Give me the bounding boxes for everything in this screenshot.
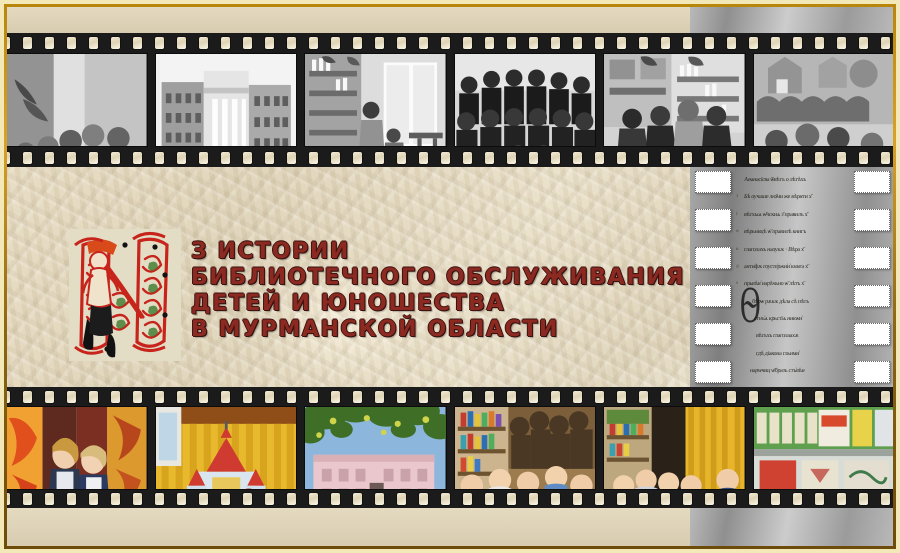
photo-readers-at-exhibition	[754, 54, 894, 147]
sprocket-frame	[695, 171, 731, 193]
sprocket-frame	[854, 171, 890, 193]
sprocket-hole	[309, 493, 318, 505]
sprocket-hole	[881, 391, 890, 403]
photo-frame	[454, 406, 597, 490]
sprocket-hole	[551, 37, 560, 49]
sprocket-hole	[749, 37, 758, 49]
manuscript-line: данти҆фѫ гоусте҆ржи҆и҆ книга х҃	[736, 258, 849, 275]
sprocket-hole	[771, 493, 780, 505]
sprocket-hole	[397, 152, 406, 164]
sprocket-hole	[133, 493, 142, 505]
sprocket-hole	[287, 493, 296, 505]
photo-frame	[753, 53, 894, 147]
photo-frame	[155, 53, 298, 147]
film-strip-top	[7, 33, 893, 167]
sprocket-hole	[771, 391, 780, 403]
title-text-lines: З ИСТОРИИ БИБЛИОТЕЧНОГО ОБСЛУЖИВАНИЯ ДЕТ…	[191, 229, 685, 343]
photo-frame	[155, 406, 298, 490]
sprocket-hole	[463, 493, 472, 505]
sprocket-hole	[441, 493, 450, 505]
title-line-4: В МУРМАНСКОЙ ОБЛАСТИ	[191, 317, 685, 343]
photo-frame	[7, 406, 148, 490]
sprocket-hole	[727, 391, 736, 403]
sprocket-hole	[353, 391, 362, 403]
photo-book-exhibition-teremok	[156, 407, 297, 490]
illuminated-initial-i	[69, 229, 181, 361]
sprocket-hole	[661, 37, 670, 49]
sprocket-hole	[529, 152, 538, 164]
sprocket-hole	[89, 493, 98, 505]
sprocket-hole	[177, 493, 186, 505]
manuscript-line-text: анти҆фѫ гоусте҆ржи҆и҆ книга х҃	[744, 264, 808, 270]
sprocket-hole	[155, 152, 164, 164]
sprocket-hole	[595, 152, 604, 164]
sprocket-hole	[661, 152, 670, 164]
sprocket-hole	[45, 37, 54, 49]
sprocket-hole	[573, 152, 582, 164]
sprocket-hole	[683, 37, 692, 49]
sprocket-hole	[815, 493, 824, 505]
sprocket-hole	[375, 391, 384, 403]
slide-title-block: З ИСТОРИИ БИБЛИОТЕЧНОГО ОБСЛУЖИВАНИЯ ДЕТ…	[69, 229, 685, 361]
sprocket-hole	[441, 152, 450, 164]
sprocket-hole	[199, 37, 208, 49]
film-frames-top	[7, 53, 893, 147]
sprocket-hole	[375, 152, 384, 164]
sprocket-hole	[485, 37, 494, 49]
manuscript-line-text: Аѳанасїєва ѿвѣтъ о лѣтѣхъ	[744, 177, 806, 183]
sprocket-hole	[485, 493, 494, 505]
sprocket-hole	[309, 37, 318, 49]
sprocket-hole	[705, 152, 714, 164]
film-strip-bottom	[7, 387, 893, 508]
sprocket-hole	[287, 37, 296, 49]
title-line-1: З ИСТОРИИ	[191, 239, 685, 265]
sprocket-hole	[7, 37, 10, 49]
perforation-column-right	[851, 167, 893, 387]
sprocket-hole	[705, 493, 714, 505]
perforation-row-top	[7, 389, 893, 404]
sprocket-hole	[23, 493, 32, 505]
title-line-3: ДЕТЕЙ И ЮНОШЕСТВА	[191, 291, 685, 317]
sprocket-hole	[595, 391, 604, 403]
sprocket-hole	[155, 37, 164, 49]
sprocket-hole	[683, 391, 692, 403]
sprocket-hole	[331, 152, 340, 164]
sprocket-hole	[177, 391, 186, 403]
sprocket-hole	[441, 37, 450, 49]
sprocket-frame	[854, 285, 890, 307]
sprocket-hole	[133, 152, 142, 164]
sprocket-hole	[595, 37, 604, 49]
photo-library-building-summer	[305, 407, 446, 490]
sprocket-hole	[529, 391, 538, 403]
sprocket-hole	[617, 391, 626, 403]
sprocket-hole	[45, 152, 54, 164]
sprocket-hole	[859, 37, 868, 49]
sprocket-hole	[815, 391, 824, 403]
sprocket-hole	[265, 152, 274, 164]
sprocket-hole	[771, 152, 780, 164]
perforation-row-top	[7, 35, 893, 50]
sprocket-hole	[573, 493, 582, 505]
sprocket-hole	[815, 37, 824, 49]
sprocket-hole	[573, 391, 582, 403]
sprocket-hole	[859, 493, 868, 505]
sprocket-hole	[353, 152, 362, 164]
sprocket-hole	[771, 37, 780, 49]
sprocket-hole	[243, 493, 252, 505]
sprocket-hole	[529, 37, 538, 49]
sprocket-hole	[375, 493, 384, 505]
sprocket-hole	[331, 391, 340, 403]
sprocket-frame	[695, 361, 731, 383]
sprocket-hole	[617, 37, 626, 49]
sprocket-hole	[661, 391, 670, 403]
photo-staff-group-portrait	[455, 54, 596, 147]
sprocket-hole	[221, 37, 230, 49]
sprocket-hole	[419, 37, 428, 49]
sprocket-hole	[23, 37, 32, 49]
sprocket-hole	[595, 493, 604, 505]
sprocket-hole	[551, 152, 560, 164]
manuscript-line: гдѣ діакона гльими҆	[736, 345, 849, 362]
photo-reading-room-interior	[305, 54, 446, 147]
photo-frame	[603, 406, 746, 490]
sprocket-hole	[375, 37, 384, 49]
sprocket-hole	[45, 493, 54, 505]
sprocket-hole	[397, 493, 406, 505]
manuscript-line-text: глаголахъ наоукѫ · Вѣра х҃	[744, 246, 804, 252]
sprocket-hole	[243, 152, 252, 164]
sprocket-hole	[749, 152, 758, 164]
sprocket-hole	[331, 493, 340, 505]
photo-frame	[603, 53, 746, 147]
photo-library-building-exterior	[156, 54, 297, 147]
sprocket-hole	[881, 493, 890, 505]
sprocket-hole	[67, 37, 76, 49]
manuscript-line: ѕпрьвѣи҆ нарѣчьно ѡ҃ лѣтъ х҃	[736, 275, 849, 292]
photo-children-group-indoor	[7, 54, 147, 147]
manuscript-line-text: бѣрѡ рѫкѫ дѣла сѣ пѣтъ	[752, 298, 809, 304]
photo-bookshelves	[754, 407, 894, 490]
sprocket-hole	[463, 37, 472, 49]
sprocket-hole	[133, 391, 142, 403]
sprocket-frame	[695, 209, 731, 231]
sprocket-hole	[221, 493, 230, 505]
sprocket-hole	[67, 152, 76, 164]
sprocket-hole	[749, 493, 758, 505]
sprocket-hole	[309, 152, 318, 164]
sprocket-hole	[837, 493, 846, 505]
sprocket-hole	[507, 37, 516, 49]
manuscript-line: ѳвѣрьницѣ ѡ҃ правилѣ книгъ	[736, 223, 849, 240]
sprocket-hole	[23, 152, 32, 164]
sprocket-hole	[353, 37, 362, 49]
manuscript-line: вѣтъхъ глаголаахѫ	[736, 327, 849, 344]
manuscript-line-text: вѣтъхъ глаголаахѫ	[756, 333, 799, 339]
sprocket-hole	[837, 152, 846, 164]
sprocket-hole	[639, 493, 648, 505]
photo-frame	[753, 406, 894, 490]
sprocket-hole	[727, 152, 736, 164]
sprocket-hole	[749, 391, 758, 403]
sprocket-hole	[309, 391, 318, 403]
sprocket-hole	[639, 37, 648, 49]
manuscript-line-text: прьвѣи҆ нарѣчьно ѡ҃ лѣтъ х҃	[744, 281, 805, 287]
photo-frame	[304, 53, 447, 147]
sprocket-hole	[177, 152, 186, 164]
sprocket-hole	[265, 391, 274, 403]
manuscript-page: Ѳ Аѳанасїєва ѿвѣтъ о лѣтѣхъ зБѣ оучаше л…	[736, 171, 849, 383]
sprocket-hole	[793, 391, 802, 403]
sprocket-hole	[859, 152, 868, 164]
sprocket-hole	[881, 152, 890, 164]
manuscript-line: зБѣ оучаше лю҃ми же вѣрити х҃	[736, 188, 849, 205]
sprocket-hole	[45, 391, 54, 403]
sprocket-hole	[661, 493, 670, 505]
sprocket-hole	[485, 152, 494, 164]
sprocket-hole	[23, 391, 32, 403]
sprocket-hole	[155, 493, 164, 505]
sprocket-hole	[507, 493, 516, 505]
sprocket-hole	[617, 152, 626, 164]
film-frames-bottom	[7, 406, 893, 490]
top-band-grey-right	[690, 7, 893, 33]
sprocket-hole	[199, 152, 208, 164]
sprocket-hole	[793, 152, 802, 164]
sprocket-hole	[463, 391, 472, 403]
sprocket-hole	[155, 391, 164, 403]
sprocket-hole	[177, 37, 186, 49]
sprocket-frame	[695, 285, 731, 307]
sprocket-frame	[695, 247, 731, 269]
sprocket-hole	[397, 37, 406, 49]
illuminated-letter-artwork	[69, 229, 181, 361]
sprocket-hole	[727, 37, 736, 49]
sprocket-hole	[353, 493, 362, 505]
sprocket-hole	[837, 391, 846, 403]
manuscript-line-text: вѣрьницѣ ѡ҃ правилѣ книгъ	[744, 229, 807, 235]
sprocket-hole	[727, 493, 736, 505]
sprocket-hole	[441, 391, 450, 403]
sprocket-hole	[7, 391, 10, 403]
manuscript-line: вглаголахъ наоукѫ · Вѣра х҃	[736, 241, 849, 258]
sprocket-hole	[463, 152, 472, 164]
sprocket-hole	[89, 152, 98, 164]
sprocket-hole	[485, 391, 494, 403]
sprocket-hole	[793, 37, 802, 49]
photo-frame	[7, 53, 148, 147]
photo-frame	[454, 53, 597, 147]
sprocket-hole	[815, 152, 824, 164]
sprocket-hole	[7, 493, 10, 505]
sprocket-hole	[639, 391, 648, 403]
perforation-row-bottom	[7, 491, 893, 506]
photo-frame	[304, 406, 447, 490]
photo-librarians-at-work	[604, 54, 745, 147]
sprocket-hole	[705, 391, 714, 403]
presentation-slide: Ѳ Аѳанасїєва ѿвѣтъ о лѣтѣхъ зБѣ оучаше л…	[0, 0, 900, 553]
manuscript-line: ївѣтхыѧ ѡ҃чскиѧ з҃ правилъ х҃	[736, 206, 849, 223]
manuscript-line-text: стнъ҆ѧ крьстїѧ никѡи҆	[754, 316, 803, 322]
sprocket-hole	[67, 493, 76, 505]
sprocket-hole	[859, 391, 868, 403]
photo-children-reading	[455, 407, 596, 490]
sprocket-hole	[573, 37, 582, 49]
sprocket-hole	[529, 493, 538, 505]
sprocket-hole	[265, 37, 274, 49]
sprocket-hole	[67, 391, 76, 403]
sprocket-hole	[837, 37, 846, 49]
sprocket-hole	[111, 493, 120, 505]
sprocket-hole	[111, 152, 120, 164]
sprocket-frame	[854, 323, 890, 345]
sprocket-hole	[419, 391, 428, 403]
sprocket-frame	[854, 209, 890, 231]
sprocket-hole	[507, 391, 516, 403]
sprocket-hole	[683, 493, 692, 505]
sprocket-hole	[617, 493, 626, 505]
sprocket-hole	[507, 152, 516, 164]
sprocket-hole	[7, 152, 10, 164]
sprocket-hole	[793, 493, 802, 505]
sprocket-frame	[854, 361, 890, 383]
manuscript-line: книгъ быта сѧ · истинѫ	[736, 380, 849, 384]
sprocket-hole	[705, 37, 714, 49]
sprocket-hole	[221, 152, 230, 164]
sprocket-hole	[133, 37, 142, 49]
photo-circulation-desk-queue	[604, 407, 745, 490]
sprocket-frame	[695, 323, 731, 345]
sprocket-hole	[881, 37, 890, 49]
manuscript-line: нарѡчиц ѡ҃бразъ стъ҆вѣи	[736, 362, 849, 379]
sprocket-hole	[199, 493, 208, 505]
bottom-band-grey-right	[690, 508, 893, 546]
sprocket-hole	[397, 391, 406, 403]
sprocket-hole	[683, 152, 692, 164]
manuscript-line-text: вѣтхыѧ ѡ҃чскиѧ з҃ правилъ х҃	[744, 211, 808, 217]
sprocket-hole	[243, 37, 252, 49]
manuscript-line: бѣрѡ рѫкѫ дѣла сѣ пѣтъ	[736, 293, 849, 310]
manuscript-line-text: нарѡчиц ѡ҃бразъ стъ҆вѣи	[750, 368, 805, 374]
manuscript-line-text: гдѣ діакона гльими҆	[756, 350, 800, 356]
manuscript-line-text: Бѣ оучаше лю҃ми же вѣрити х҃	[744, 194, 812, 200]
sprocket-hole	[199, 391, 208, 403]
sprocket-hole	[419, 152, 428, 164]
title-line-2: БИБЛИОТЕЧНОГО ОБСЛУЖИВАНИЯ	[191, 265, 685, 291]
sprocket-hole	[419, 493, 428, 505]
perforation-row-bottom	[7, 150, 893, 165]
sprocket-hole	[287, 391, 296, 403]
manuscript-line: Аѳанасїєва ѿвѣтъ о лѣтѣхъ	[736, 171, 849, 188]
sprocket-hole	[551, 391, 560, 403]
sprocket-hole	[243, 391, 252, 403]
photo-two-schoolgirls	[7, 407, 147, 490]
sprocket-hole	[89, 391, 98, 403]
sprocket-hole	[639, 152, 648, 164]
sprocket-hole	[331, 37, 340, 49]
slide-canvas: Ѳ Аѳанасїєва ѿвѣтъ о лѣтѣхъ зБѣ оучаше л…	[7, 7, 893, 546]
manuscript-line: стнъ҆ѧ крьстїѧ никѡи҆	[736, 310, 849, 327]
sprocket-hole	[221, 391, 230, 403]
sprocket-hole	[287, 152, 296, 164]
sprocket-hole	[551, 493, 560, 505]
perforation-column-left	[692, 167, 734, 387]
sprocket-hole	[111, 391, 120, 403]
film-strip-right: Ѳ Аѳанасїєва ѿвѣтъ о лѣтѣхъ зБѣ оучаше л…	[690, 167, 893, 387]
sprocket-hole	[89, 37, 98, 49]
sprocket-hole	[111, 37, 120, 49]
sprocket-frame	[854, 247, 890, 269]
sprocket-hole	[265, 493, 274, 505]
